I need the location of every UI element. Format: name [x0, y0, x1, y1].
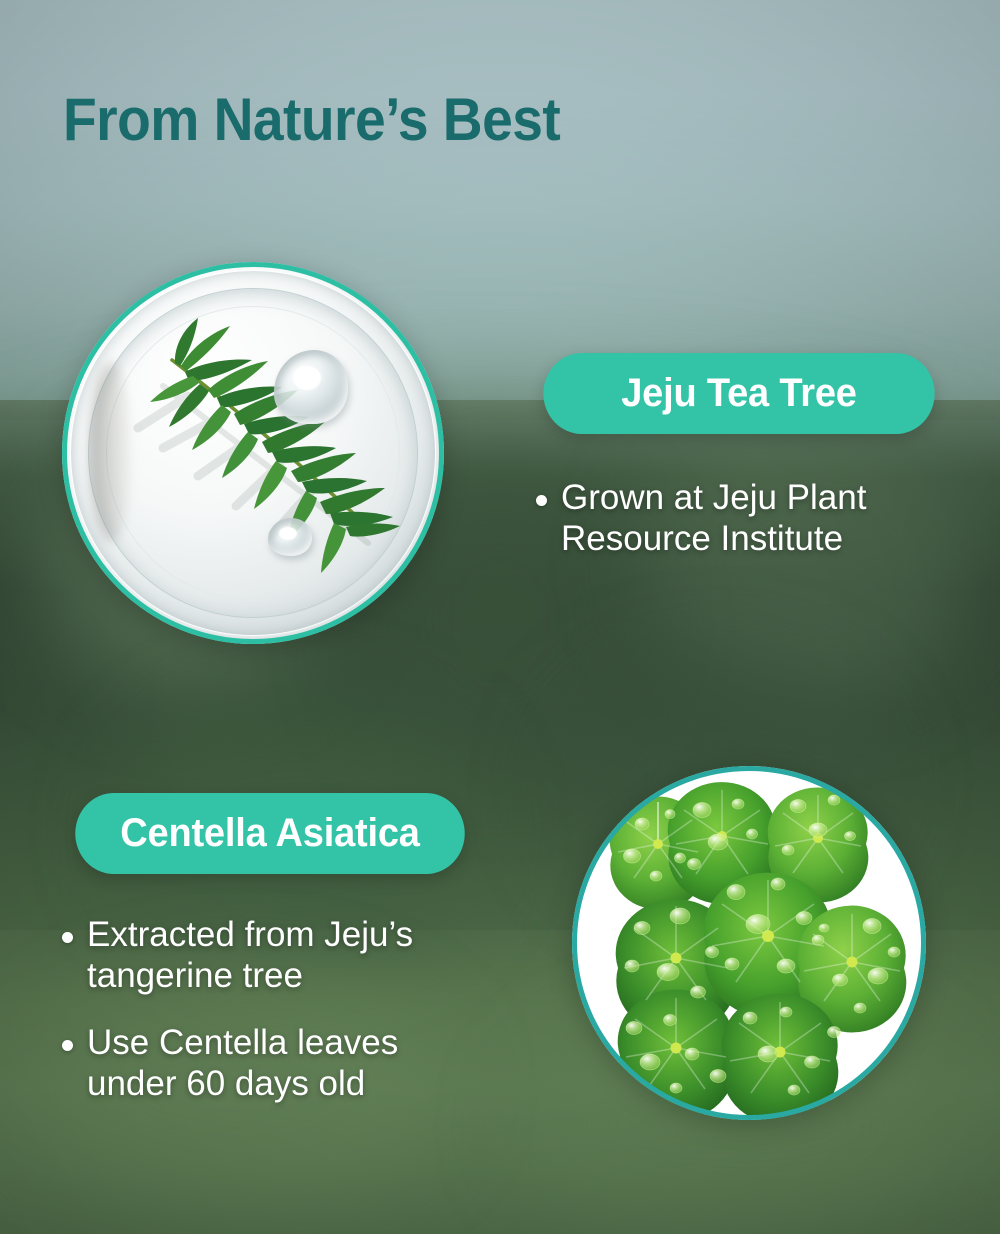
tea-tree-petri-dish-image: [62, 262, 444, 644]
badge-centella-asiatica[interactable]: Centella Asiatica: [75, 793, 465, 874]
list-item-line: Use Centella leaves: [87, 1023, 398, 1062]
list-item: Use Centella leaves under 60 days old: [62, 1023, 502, 1105]
list-item: Extracted from Jeju’s tangerine tree: [62, 915, 502, 997]
centella-leaves-icon: [572, 766, 926, 1120]
list-item-line: Resource Institute: [561, 519, 843, 558]
list-item-line: under 60 days old: [87, 1064, 365, 1103]
infographic-canvas: From Nature’s Best: [0, 0, 1000, 1234]
page-title: From Nature’s Best: [63, 88, 560, 152]
bullet-dot-icon: [536, 495, 547, 506]
bullet-list-centella-asiatica: Extracted from Jeju’s tangerine tree Use…: [62, 915, 502, 1105]
centella-leaves-image: [572, 766, 926, 1120]
list-item: Grown at Jeju Plant Resource Institute: [536, 478, 956, 560]
list-item-text: Use Centella leaves under 60 days old: [87, 1023, 502, 1105]
water-droplet-large: [274, 350, 348, 424]
list-item-line: Extracted from Jeju’s: [87, 915, 413, 954]
bullet-list-jeju-tea-tree: Grown at Jeju Plant Resource Institute: [536, 478, 956, 560]
tea-tree-sprig-icon: [62, 262, 444, 644]
list-item-text: Grown at Jeju Plant Resource Institute: [561, 478, 956, 560]
bullet-dot-icon: [62, 1040, 73, 1051]
list-item-line: tangerine tree: [87, 956, 303, 995]
bullet-dot-icon: [62, 932, 73, 943]
list-item-text: Extracted from Jeju’s tangerine tree: [87, 915, 502, 997]
water-droplet-small: [268, 518, 312, 556]
list-item-line: Grown at Jeju Plant: [561, 478, 866, 517]
badge-jeju-tea-tree[interactable]: Jeju Tea Tree: [543, 353, 934, 434]
